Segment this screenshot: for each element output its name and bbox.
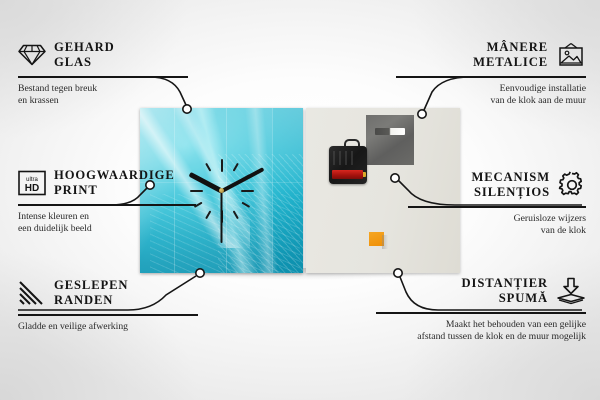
callout-distantier-spuma: DISTANȚIER SPUMĂ Maakt het behouden van … — [376, 276, 586, 343]
callout-gehard-glas: GEHARD GLAS Bestand tegen breuk en krass… — [18, 40, 188, 107]
mechanism-vents — [333, 151, 355, 165]
ultra-hd-icon: ultra HD — [18, 170, 46, 196]
callout-title: MECANISM SILENȚIOS — [408, 170, 550, 200]
callout-hoogwaardige-print: ultra HD HOOGWAARDIGE PRINT Intense kleu… — [18, 168, 196, 235]
callout-rule — [18, 204, 196, 206]
callout-header-manere-metalice: MÂNERE METALICE — [396, 40, 586, 70]
callout-rule — [18, 314, 198, 316]
callout-description: Bestand tegen breuk en krassen — [18, 83, 188, 108]
foam-spacer-arrow-icon — [556, 277, 586, 305]
callout-title: MÂNERE METALICE — [396, 40, 548, 70]
callout-title: DISTANȚIER SPUMĂ — [376, 276, 548, 306]
battery — [332, 170, 363, 179]
callout-rule — [408, 206, 586, 208]
callout-header-geslepen-randen: GESLEPEN RANDEN — [18, 278, 198, 308]
infographic-canvas: GEHARD GLAS Bestand tegen breuk en krass… — [0, 0, 600, 400]
callout-description: Eenvoudige installatie van de klok aan d… — [396, 83, 586, 108]
callout-description: Gladde en veilige afwerking — [18, 321, 198, 333]
callout-title: GESLEPEN RANDEN — [54, 278, 128, 308]
callout-description: Intense kleuren en een duidelijk beeld — [18, 211, 196, 236]
callout-title: HOOGWAARDIGE PRINT — [54, 168, 175, 198]
callout-rule — [376, 312, 586, 314]
callout-rule — [18, 76, 188, 78]
clock-second-hand — [221, 191, 223, 243]
callout-manere-metalice: MÂNERE METALICE Eenvoudige installatie v… — [396, 40, 586, 107]
svg-text:HD: HD — [25, 183, 39, 194]
callout-geslepen-randen: GESLEPEN RANDEN Gladde en veilige afwerk… — [18, 278, 198, 333]
foam-spacer-pad — [369, 232, 384, 246]
callout-header-gehard-glas: GEHARD GLAS — [18, 40, 188, 70]
callout-header-distantier-spuma: DISTANȚIER SPUMĂ — [376, 276, 586, 306]
callout-description: Geruisloze wijzers van de klok — [408, 213, 586, 238]
metal-hanger-plate — [366, 115, 414, 165]
callout-rule — [396, 76, 586, 78]
clock-center-pin — [219, 188, 224, 193]
callout-mecanism-silentios: MECANISM SILENȚIOS Geruisloze wijzers va… — [408, 170, 586, 237]
beveled-edges-icon — [18, 281, 46, 305]
gear-icon — [558, 171, 586, 199]
callout-description: Maakt het behouden van een gelijke afsta… — [376, 319, 586, 344]
picture-frame-hanger-icon — [556, 42, 586, 68]
callout-title: GEHARD GLAS — [54, 40, 115, 70]
callout-header-hoogwaardige-print: ultra HD HOOGWAARDIGE PRINT — [18, 168, 196, 198]
diamond-icon — [18, 43, 46, 67]
callout-header-mecanism-silentios: MECANISM SILENȚIOS — [408, 170, 586, 200]
